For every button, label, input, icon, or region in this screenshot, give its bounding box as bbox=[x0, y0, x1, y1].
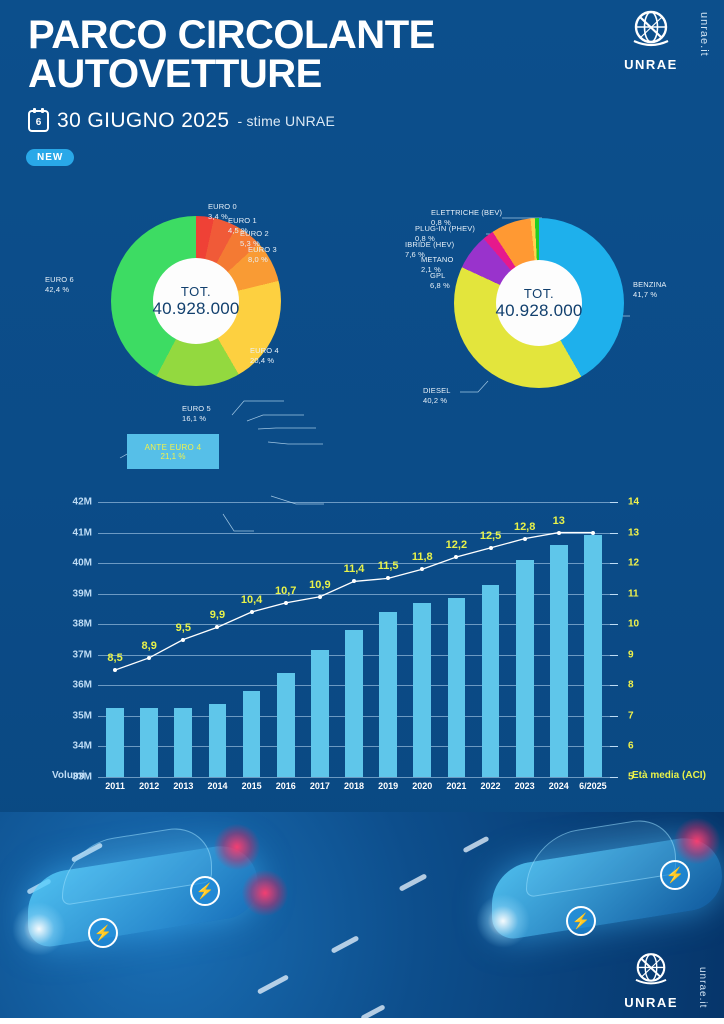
y-axis-tickmark-right bbox=[610, 624, 618, 625]
x-axis-tick: 2022 bbox=[481, 781, 501, 791]
line-data-label: 8,9 bbox=[142, 640, 157, 652]
header: PARCO CIRCOLANTE AUTOVETTURE 6 30 GIUGNO… bbox=[0, 0, 724, 178]
x-axis-tick: 2016 bbox=[276, 781, 296, 791]
line-data-point bbox=[113, 668, 117, 672]
euro-label-euro3: EURO 3 8,0 % bbox=[248, 245, 277, 264]
footer-illustration: ⚡ ⚡ ⚡ ⚡ UNRAE unrae.it bbox=[0, 812, 724, 1024]
y-axis-tickmark-right bbox=[610, 533, 618, 534]
headlight-glow bbox=[476, 894, 530, 948]
ante-euro4-box: ANTE EURO 4 21,1 % bbox=[127, 434, 219, 469]
y-axis-tick-right: 14 bbox=[628, 497, 639, 508]
y-axis-tick-left: 37M bbox=[73, 649, 92, 660]
dateline: 6 30 GIUGNO 2025 - stime UNRAE bbox=[28, 109, 335, 133]
line-data-label: 10,7 bbox=[275, 585, 296, 597]
x-axis-tick: 2024 bbox=[549, 781, 569, 791]
page-title-line1: PARCO CIRCOLANTE bbox=[28, 13, 435, 57]
x-axis-tick: 2021 bbox=[446, 781, 466, 791]
y-axis-tick-left: 39M bbox=[73, 588, 92, 599]
x-axis-tick: 2017 bbox=[310, 781, 330, 791]
ante-euro4-label: ANTE EURO 4 bbox=[145, 443, 202, 452]
speed-dash bbox=[257, 974, 289, 994]
y-axis-tick-right: 6 bbox=[628, 741, 634, 752]
chart-plot-area: 33M34M35M36M37M38M39M40M41M42M5678910111… bbox=[98, 502, 610, 777]
x-axis-tick: 2013 bbox=[173, 781, 193, 791]
euro-label-euro4: EURO 4 20,4 % bbox=[250, 346, 279, 365]
line-data-label: 13 bbox=[553, 515, 565, 527]
chart-gridline bbox=[98, 777, 610, 778]
y-axis-tick-left: 41M bbox=[73, 527, 92, 538]
euro-label-euro5: EURO 5 16,1 % bbox=[182, 404, 211, 423]
speed-dash bbox=[462, 836, 489, 854]
fuel-total-value: 40.928.000 bbox=[495, 301, 582, 321]
volumes-age-chart: 33M34M35M36M37M38M39M40M41M42M5678910111… bbox=[0, 488, 724, 808]
y-axis-tick-left: 35M bbox=[73, 710, 92, 721]
x-axis-tick: 2014 bbox=[207, 781, 227, 791]
page-title: PARCO CIRCOLANTE AUTOVETTURE bbox=[28, 16, 435, 94]
unrae-wordmark: UNRAE bbox=[624, 995, 678, 1010]
y-axis-tick-right: 9 bbox=[628, 649, 634, 660]
x-axis-tick: 2020 bbox=[412, 781, 432, 791]
ev-bolt-icon: ⚡ bbox=[660, 860, 690, 890]
x-axis-tick: 2018 bbox=[344, 781, 364, 791]
line-data-point bbox=[454, 555, 458, 559]
y-axis-tick-left: 40M bbox=[73, 558, 92, 569]
ev-bolt-icon: ⚡ bbox=[88, 918, 118, 948]
taillight-glow bbox=[242, 870, 288, 916]
line-data-label: 10,9 bbox=[309, 579, 330, 591]
report-date: 30 GIUGNO 2025 bbox=[57, 109, 230, 133]
ev-bolt-icon: ⚡ bbox=[190, 876, 220, 906]
y-axis-tick-right: 12 bbox=[628, 558, 639, 569]
x-axis-tick: 2012 bbox=[139, 781, 159, 791]
y-axis-tickmark-right bbox=[610, 655, 618, 656]
line-data-point bbox=[523, 537, 527, 541]
line-data-label: 11,4 bbox=[344, 563, 365, 575]
speed-dash bbox=[399, 873, 428, 891]
line-data-point bbox=[386, 576, 390, 580]
fuel-donut-center: TOT. 40.928.000 bbox=[496, 260, 582, 346]
unrae-globe-icon bbox=[628, 950, 674, 992]
calendar-day: 6 bbox=[36, 116, 42, 130]
euro-donut-center: TOT. 40.928.000 bbox=[153, 258, 239, 344]
x-axis-tick: 6/2025 bbox=[579, 781, 607, 791]
y-axis-tick-right: 13 bbox=[628, 527, 639, 538]
euro-total-label: TOT. bbox=[181, 284, 211, 299]
y-axis-tickmark-right bbox=[610, 685, 618, 686]
line-data-point bbox=[352, 579, 356, 583]
chart-right-axis-label: Età media (ACI) bbox=[632, 770, 706, 781]
bottom-strip bbox=[0, 1018, 724, 1024]
fuel-donut-ring: TOT. 40.928.000 bbox=[454, 218, 624, 388]
line-data-point bbox=[489, 546, 493, 550]
infographic-page: PARCO CIRCOLANTE AUTOVETTURE 6 30 GIUGNO… bbox=[0, 0, 724, 1024]
line-data-label: 12,2 bbox=[446, 539, 467, 551]
line-data-label: 11,5 bbox=[378, 560, 399, 572]
line-data-label: 9,5 bbox=[176, 622, 191, 634]
line-data-label: 12,8 bbox=[514, 521, 535, 533]
taillight-glow bbox=[674, 818, 720, 864]
euro-donut-chart: TOT. 40.928.000 EURO 0 3,4 % EURO 1 4,5 … bbox=[58, 196, 358, 446]
x-axis-tick: 2015 bbox=[242, 781, 262, 791]
y-axis-tick-right: 8 bbox=[628, 680, 634, 691]
x-axis-tick: 2019 bbox=[378, 781, 398, 791]
ev-bolt-icon: ⚡ bbox=[566, 906, 596, 936]
electric-car-illustration: ⚡ ⚡ bbox=[28, 830, 288, 950]
y-axis-tick-right: 11 bbox=[628, 588, 639, 599]
line-data-point bbox=[181, 638, 185, 642]
line-data-point bbox=[420, 567, 424, 571]
y-axis-tick-left: 38M bbox=[73, 619, 92, 630]
y-axis-tickmark-right bbox=[610, 502, 618, 503]
y-axis-tick-left: 42M bbox=[73, 497, 92, 508]
y-axis-tickmark-right bbox=[610, 716, 618, 717]
calendar-icon: 6 bbox=[28, 110, 49, 132]
unrae-wordmark: UNRAE bbox=[622, 57, 680, 72]
line-data-label: 10,4 bbox=[241, 594, 262, 606]
fuel-label-gpl: GPL 6,8 % bbox=[430, 271, 450, 290]
y-axis-tick-left: 36M bbox=[73, 680, 92, 691]
line-data-point bbox=[557, 531, 561, 535]
unrae-logo-footer[interactable]: UNRAE bbox=[624, 950, 678, 1010]
new-badge: NEW bbox=[26, 149, 74, 166]
electric-car-illustration: ⚡ ⚡ bbox=[492, 822, 724, 942]
age-line-series bbox=[98, 502, 610, 777]
line-data-point bbox=[215, 625, 219, 629]
fuel-total-label: TOT. bbox=[524, 286, 554, 301]
line-data-point bbox=[284, 601, 288, 605]
fuel-label-diesel: DIESEL 40,2 % bbox=[423, 386, 451, 405]
unrae-site-link-footer[interactable]: unrae.it bbox=[697, 967, 708, 1008]
y-axis-tickmark-right bbox=[610, 746, 618, 747]
line-data-point bbox=[250, 610, 254, 614]
unrae-site-link[interactable]: unrae.it bbox=[698, 12, 710, 57]
line-data-label: 8,5 bbox=[107, 652, 122, 664]
y-axis-tickmark-right bbox=[610, 777, 618, 778]
headlight-glow bbox=[12, 902, 66, 956]
line-data-point bbox=[318, 595, 322, 599]
y-axis-tickmark-right bbox=[610, 563, 618, 564]
euro-label-euro6: EURO 6 42,4 % bbox=[45, 275, 74, 294]
x-axis-tick: 2011 bbox=[105, 781, 125, 791]
line-data-label: 11,8 bbox=[412, 551, 433, 563]
fuel-donut-chart: TOT. 40.928.000 ELETTRICHE (BEV) 0,8 % P… bbox=[390, 196, 700, 426]
line-data-label: 12,5 bbox=[480, 530, 501, 542]
page-title-line2: AUTOVETTURE bbox=[28, 55, 435, 94]
line-data-point bbox=[147, 656, 151, 660]
y-axis-tick-left: 34M bbox=[73, 741, 92, 752]
unrae-logo-header[interactable]: UNRAE bbox=[622, 8, 680, 72]
unrae-globe-icon bbox=[625, 8, 677, 54]
speed-dash bbox=[331, 935, 360, 953]
y-axis-tickmark-right bbox=[610, 594, 618, 595]
chart-left-axis-label: Volumi bbox=[52, 770, 85, 781]
y-axis-tick-right: 7 bbox=[628, 710, 634, 721]
report-date-suffix: - stime UNRAE bbox=[238, 113, 336, 129]
line-data-point bbox=[591, 531, 595, 535]
y-axis-tick-right: 10 bbox=[628, 619, 639, 630]
taillight-glow bbox=[214, 824, 260, 870]
euro-total-value: 40.928.000 bbox=[152, 299, 239, 319]
line-data-label: 9,9 bbox=[210, 609, 225, 621]
x-axis-tick: 2023 bbox=[515, 781, 535, 791]
ante-euro4-value: 21,1 % bbox=[161, 452, 186, 461]
fuel-label-benzina: BENZINA 41,7 % bbox=[633, 280, 667, 299]
